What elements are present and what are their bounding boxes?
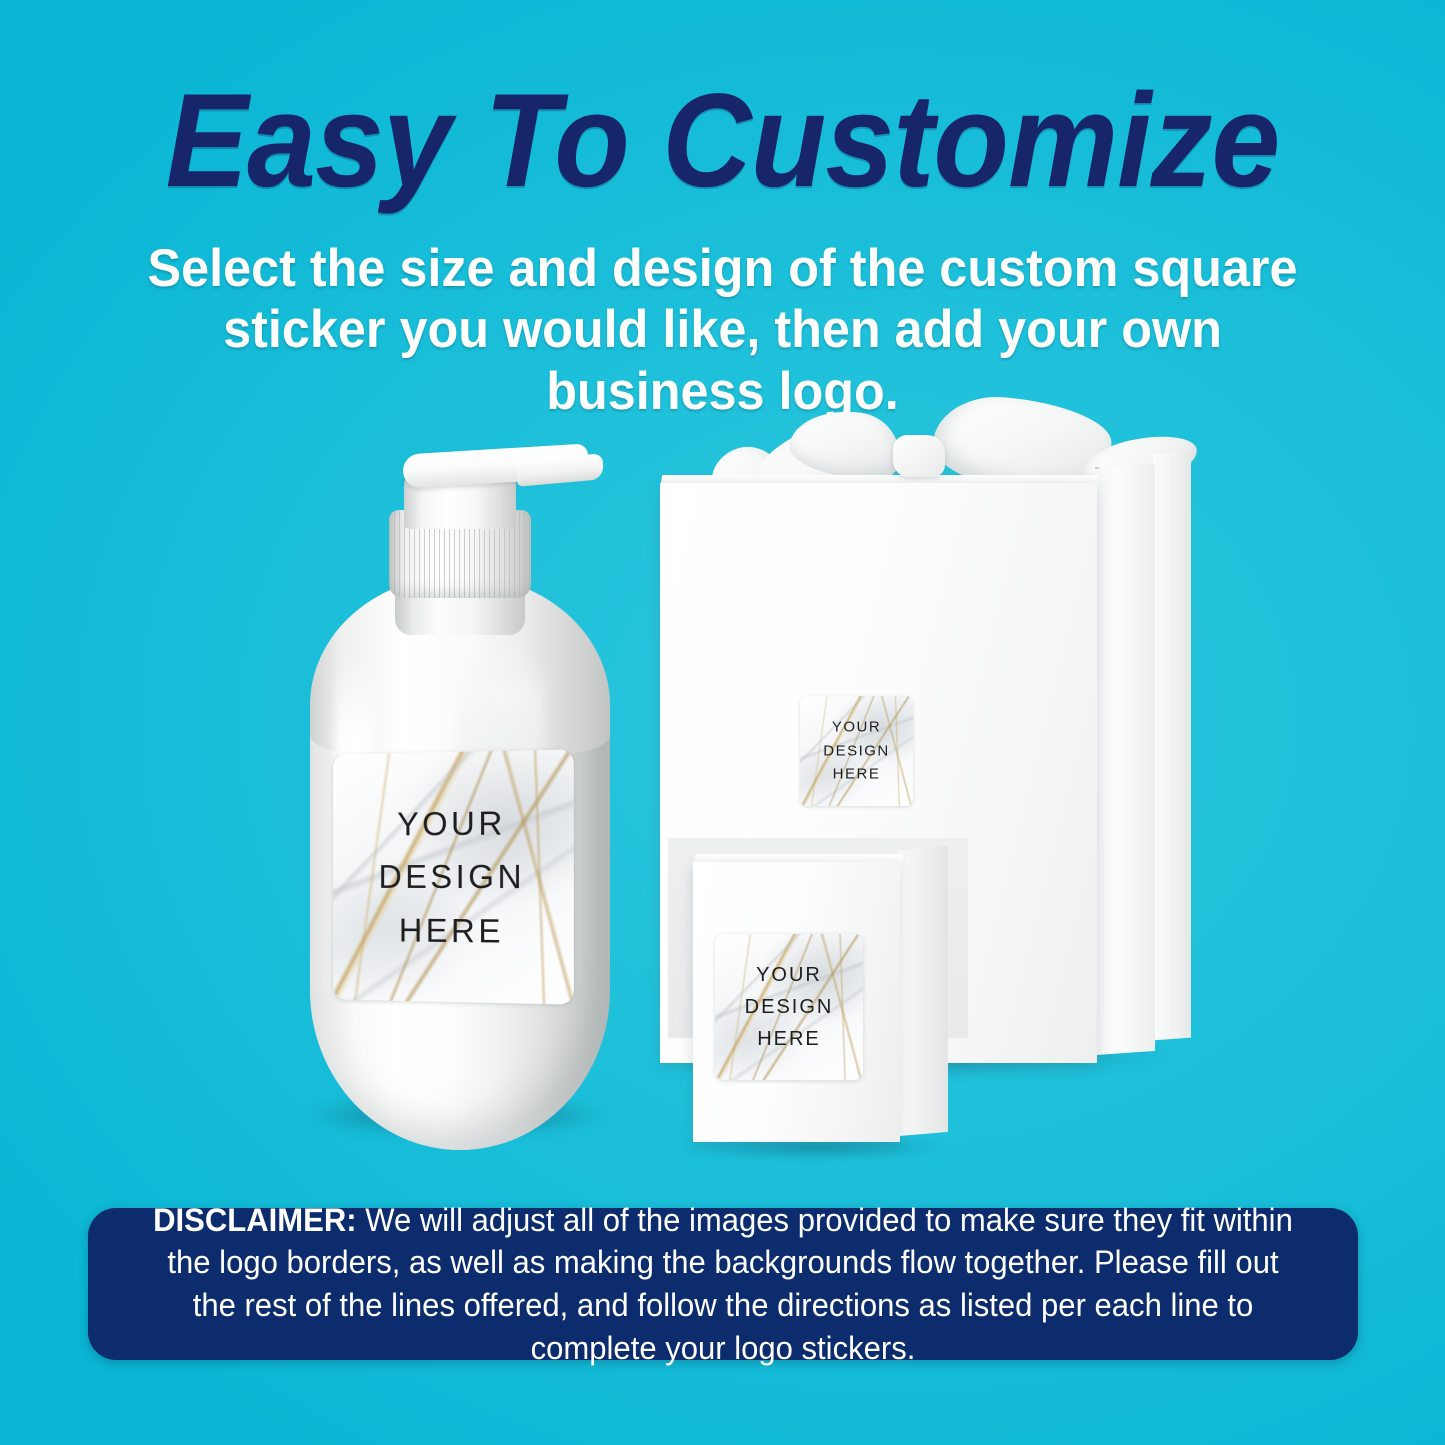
small-box-sticker: YOUR DESIGN HERE <box>715 934 863 1080</box>
page-title: Easy To Customize <box>51 72 1395 212</box>
bottle-sticker-line-1: YOUR <box>333 795 574 851</box>
bottle-sticker-line-3: HERE <box>333 903 574 959</box>
gift-box-sticker-line-2: DESIGN <box>800 739 913 763</box>
gift-box-sticker-text: YOUR DESIGN HERE <box>800 715 913 786</box>
disclaimer-paragraph: DISCLAIMER: We will adjust all of the im… <box>107 1199 1339 1369</box>
gift-box-sticker-line-3: HERE <box>800 763 913 787</box>
small-box-sticker-line-3: HERE <box>715 1023 863 1055</box>
ribbon-knot <box>893 435 945 477</box>
gift-box-sticker-line-1: YOUR <box>800 715 913 739</box>
gift-box-side <box>1095 465 1155 1055</box>
small-box-side <box>898 846 948 1136</box>
gift-box-sticker: YOUR DESIGN HERE <box>800 696 913 806</box>
small-box-sticker-text: YOUR DESIGN HERE <box>715 959 863 1055</box>
small-box-sticker-line-1: YOUR <box>715 959 863 991</box>
bottle-sticker-text: YOUR DESIGN HERE <box>333 795 574 959</box>
promo-graphic: Easy To Customize Select the size and de… <box>0 0 1445 1445</box>
gift-box-side-back <box>1153 452 1191 1041</box>
bottle-sticker-line-2: DESIGN <box>333 850 574 905</box>
disclaimer-label: DISCLAIMER: <box>153 1202 356 1238</box>
bottle-sticker-label: YOUR DESIGN HERE <box>333 749 574 1004</box>
small-box-sticker-line-2: DESIGN <box>715 991 863 1023</box>
disclaimer-banner: DISCLAIMER: We will adjust all of the im… <box>88 1208 1358 1360</box>
